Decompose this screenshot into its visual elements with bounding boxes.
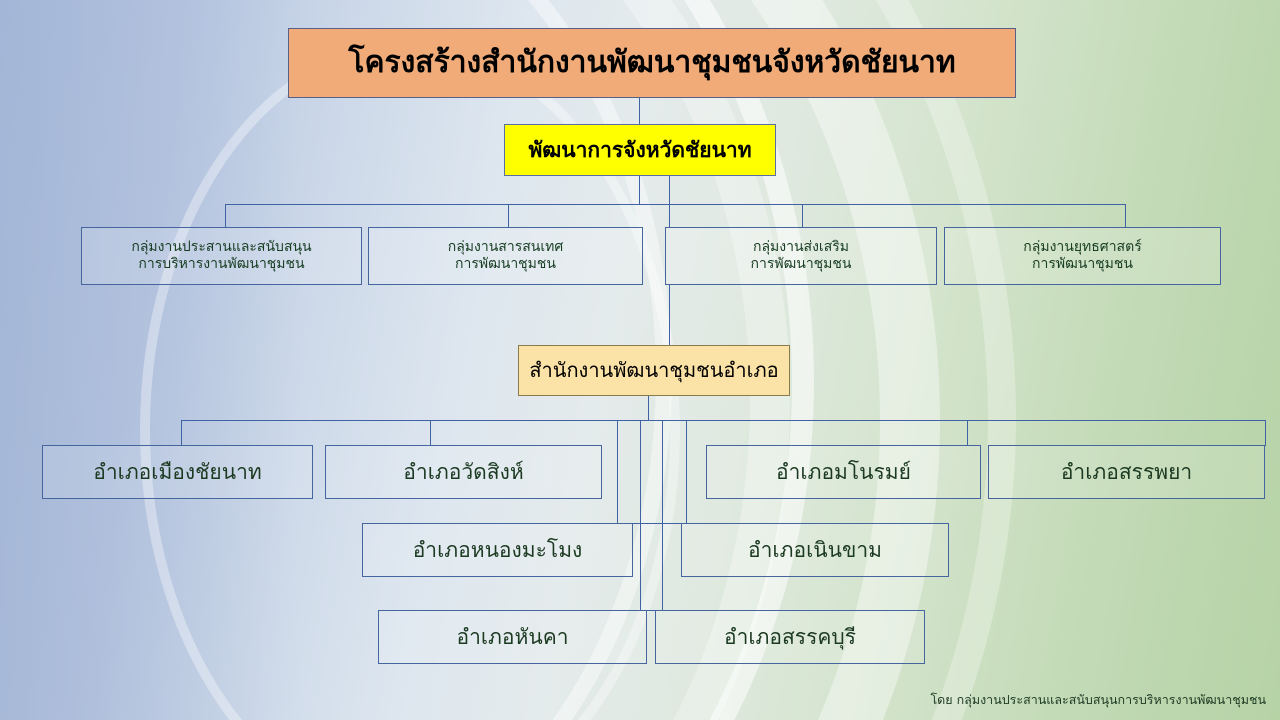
node-district-hankha: อำเภอหันคา (378, 610, 647, 664)
connector-head-stem (639, 176, 640, 204)
connector-groups-to-amphoe (669, 285, 670, 345)
connector-district-drop-3 (967, 420, 968, 445)
connector-district-drop-6 (686, 420, 687, 523)
node-group-3: กลุ่มงานส่งเสริม การพัฒนาชุมชน (665, 227, 937, 285)
node-district-wat-sing: อำเภอวัดสิงห์ (325, 445, 602, 499)
background-left-shade (0, 0, 300, 720)
connector-groups-bus (225, 204, 1125, 205)
node-district-manorom: อำเภอมโนรมย์ (706, 445, 981, 499)
node-district-sankhaburi: อำเภอสรรคบุรี (655, 610, 925, 664)
node-provincial-developer: พัฒนาการจังหวัดชัยนาท (504, 124, 776, 176)
org-chart-slide: โครงสร้างสำนักงานพัฒนาชุมชนจังหวัดชัยนาท… (0, 0, 1280, 720)
node-district-mueang-chainat: อำเภอเมืองชัยนาท (42, 445, 313, 499)
connector-district-drop-5 (617, 420, 618, 523)
connector-district-drop-2 (430, 420, 431, 445)
chart-title-box: โครงสร้างสำนักงานพัฒนาชุมชนจังหวัดชัยนาท (288, 28, 1016, 98)
connector-group-drop-3 (802, 204, 803, 227)
node-amphoe-office: สำนักงานพัฒนาชุมชนอำเภอ (518, 345, 790, 396)
connector-group-drop-4 (1125, 204, 1126, 227)
node-group-4: กลุ่มงานยุทธศาสตร์ การพัฒนาชุมชน (944, 227, 1221, 285)
connector-district-drop-8 (662, 420, 663, 610)
connector-head-to-group-3 (669, 176, 670, 227)
node-group-2: กลุ่มงานสารสนเทศ การพัฒนาชุมชน (368, 227, 643, 285)
connector-districts-bus (181, 420, 1265, 421)
connector-district-drop-7 (640, 420, 641, 610)
node-group-1: กลุ่มงานประสานและสนับสนุน การบริหารงานพั… (81, 227, 362, 285)
connector-group-drop-2 (508, 204, 509, 227)
connector-group-drop-1 (225, 204, 226, 227)
connector-district-drop-1 (181, 420, 182, 445)
node-district-sapphaya: อำเภอสรรพยา (988, 445, 1265, 499)
connector-title-to-head (639, 98, 640, 124)
connector-district-drop-4 (1265, 420, 1266, 445)
connector-amphoe-stem (648, 396, 649, 420)
node-district-noen-kham: อำเภอเนินขาม (681, 523, 949, 577)
footer-credit: โดย กลุ่มงานประสานและสนับสนุนการบริหารงา… (930, 690, 1266, 710)
node-district-nong-mamong: อำเภอหนองมะโมง (362, 523, 633, 577)
